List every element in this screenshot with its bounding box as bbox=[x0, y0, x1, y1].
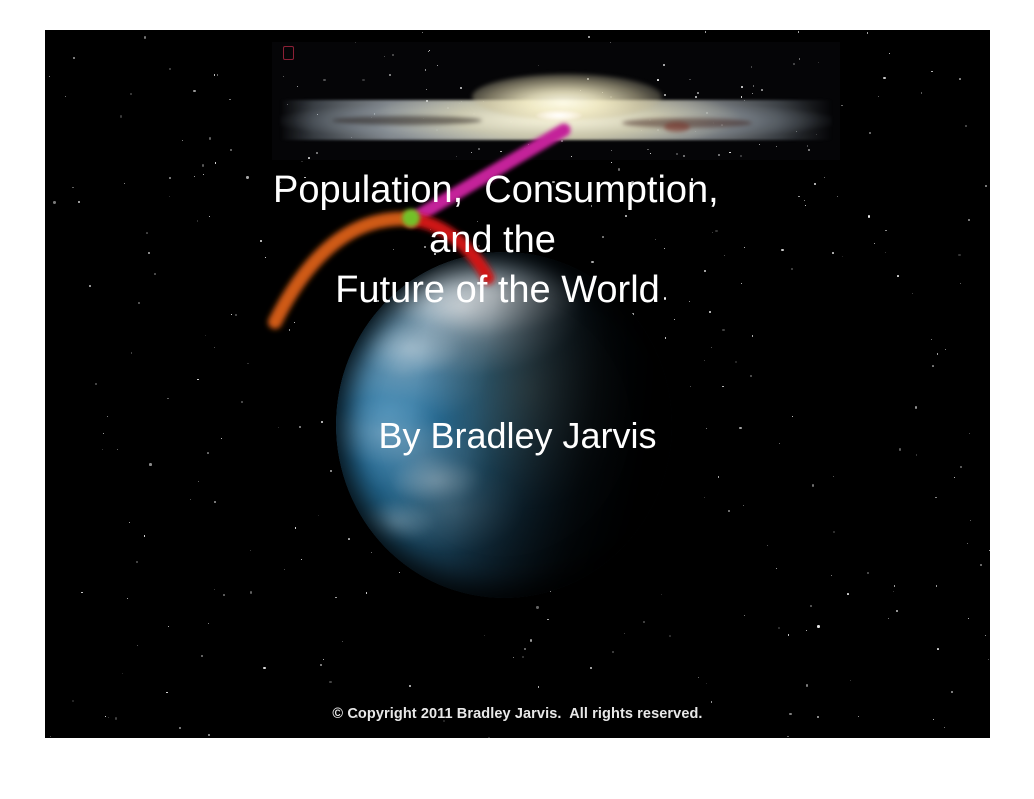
star bbox=[967, 543, 969, 545]
star bbox=[689, 79, 691, 81]
star bbox=[937, 353, 939, 355]
star bbox=[205, 335, 206, 336]
star bbox=[122, 673, 123, 674]
star bbox=[384, 56, 385, 57]
star bbox=[808, 149, 810, 151]
star bbox=[776, 146, 777, 147]
star bbox=[247, 363, 248, 364]
star bbox=[665, 337, 667, 339]
star bbox=[65, 96, 66, 97]
star bbox=[850, 680, 852, 682]
slide-page: Population, Consumption, and the Future … bbox=[0, 0, 1034, 799]
star bbox=[524, 148, 525, 149]
star bbox=[263, 667, 265, 669]
star bbox=[960, 466, 962, 468]
star bbox=[215, 162, 216, 163]
star bbox=[893, 591, 894, 592]
star bbox=[348, 538, 350, 540]
star bbox=[167, 398, 169, 400]
star bbox=[136, 561, 138, 563]
star bbox=[330, 470, 332, 472]
star bbox=[704, 497, 705, 498]
star bbox=[753, 85, 754, 86]
star bbox=[728, 510, 730, 512]
star bbox=[538, 65, 539, 66]
star bbox=[806, 630, 807, 631]
star bbox=[316, 152, 318, 154]
galaxy-core-highlight bbox=[536, 110, 582, 121]
star bbox=[428, 51, 429, 52]
galaxy-dust-lane-left bbox=[332, 116, 482, 125]
star bbox=[706, 683, 707, 684]
star bbox=[208, 734, 210, 736]
star bbox=[970, 520, 971, 521]
star bbox=[752, 93, 753, 94]
star bbox=[168, 626, 169, 627]
star bbox=[488, 737, 491, 738]
star bbox=[190, 499, 191, 500]
star bbox=[711, 701, 713, 703]
star bbox=[965, 125, 967, 127]
star bbox=[335, 597, 336, 598]
star bbox=[320, 664, 323, 667]
star bbox=[611, 162, 612, 163]
star bbox=[362, 79, 364, 81]
star bbox=[718, 154, 720, 156]
star bbox=[537, 145, 538, 146]
star bbox=[915, 406, 917, 408]
star bbox=[571, 156, 572, 157]
star bbox=[841, 105, 843, 107]
star bbox=[833, 476, 834, 477]
star bbox=[214, 501, 216, 503]
star bbox=[932, 365, 934, 367]
star bbox=[137, 645, 138, 646]
star bbox=[798, 31, 800, 33]
star bbox=[676, 153, 678, 155]
star bbox=[522, 656, 524, 658]
star bbox=[355, 42, 356, 43]
page-title: Population, Consumption, and the Future … bbox=[45, 165, 990, 315]
title-line-2: and the bbox=[45, 215, 990, 265]
star bbox=[894, 585, 896, 587]
star bbox=[223, 594, 225, 596]
star bbox=[130, 93, 132, 95]
star bbox=[744, 615, 745, 616]
star bbox=[392, 54, 394, 56]
star bbox=[217, 74, 218, 75]
star bbox=[869, 132, 871, 134]
star bbox=[989, 550, 990, 551]
star bbox=[460, 87, 462, 89]
star bbox=[127, 598, 128, 599]
star bbox=[750, 375, 752, 377]
star bbox=[230, 149, 233, 152]
star bbox=[73, 57, 75, 59]
star bbox=[294, 322, 296, 324]
star bbox=[318, 515, 320, 517]
star bbox=[342, 641, 343, 642]
star bbox=[524, 648, 526, 650]
star bbox=[741, 96, 743, 98]
star bbox=[297, 86, 299, 88]
star bbox=[937, 648, 939, 650]
star bbox=[284, 569, 285, 570]
star bbox=[793, 63, 795, 65]
star bbox=[698, 677, 699, 678]
star bbox=[198, 481, 199, 482]
star bbox=[743, 505, 744, 506]
star bbox=[49, 76, 50, 77]
star bbox=[72, 700, 74, 702]
star bbox=[366, 592, 367, 593]
red-annotation-mark bbox=[283, 46, 294, 60]
star bbox=[484, 635, 485, 636]
star bbox=[831, 575, 832, 576]
star bbox=[663, 64, 664, 65]
star bbox=[878, 96, 879, 97]
star bbox=[674, 319, 675, 320]
star bbox=[536, 606, 538, 608]
author-byline: By Bradley Jarvis bbox=[45, 412, 990, 460]
star bbox=[888, 618, 889, 619]
galaxy-reddish-knot bbox=[664, 122, 690, 132]
star bbox=[250, 550, 251, 551]
star bbox=[471, 152, 472, 153]
star bbox=[214, 347, 215, 348]
star bbox=[661, 594, 662, 595]
star bbox=[295, 527, 297, 529]
star bbox=[214, 589, 215, 590]
star bbox=[289, 329, 290, 330]
star bbox=[669, 635, 671, 637]
star bbox=[988, 659, 989, 660]
star bbox=[208, 623, 210, 625]
star bbox=[740, 155, 742, 157]
star bbox=[889, 53, 890, 54]
star bbox=[429, 50, 430, 51]
star bbox=[767, 545, 768, 546]
star bbox=[590, 667, 593, 670]
star bbox=[751, 66, 753, 68]
star bbox=[329, 681, 332, 684]
star bbox=[425, 69, 427, 71]
star bbox=[500, 151, 501, 152]
star bbox=[144, 36, 147, 39]
star bbox=[169, 68, 172, 71]
star bbox=[588, 36, 590, 38]
star bbox=[818, 62, 819, 63]
star bbox=[301, 559, 302, 560]
star bbox=[690, 386, 691, 387]
star bbox=[705, 31, 706, 32]
star bbox=[778, 627, 780, 629]
star bbox=[426, 89, 427, 90]
star bbox=[95, 383, 97, 385]
title-line-1: Population, Consumption, bbox=[45, 165, 990, 215]
star bbox=[422, 32, 423, 33]
star bbox=[389, 74, 391, 76]
star bbox=[283, 76, 284, 77]
star bbox=[647, 149, 648, 150]
star bbox=[643, 621, 645, 623]
star bbox=[193, 90, 195, 92]
star bbox=[847, 593, 849, 595]
star bbox=[201, 655, 203, 657]
star bbox=[129, 522, 130, 523]
star bbox=[308, 157, 310, 159]
star bbox=[954, 477, 955, 478]
star bbox=[695, 96, 697, 98]
star bbox=[182, 140, 184, 142]
star bbox=[787, 736, 789, 738]
star bbox=[149, 463, 152, 466]
star bbox=[323, 659, 325, 661]
star bbox=[516, 159, 517, 160]
star bbox=[229, 99, 231, 101]
star bbox=[144, 535, 146, 537]
star bbox=[722, 329, 724, 331]
star bbox=[921, 92, 923, 94]
star bbox=[867, 572, 869, 574]
star bbox=[179, 727, 181, 729]
star bbox=[538, 686, 540, 688]
star bbox=[718, 476, 720, 478]
star bbox=[735, 361, 737, 363]
star bbox=[722, 386, 723, 387]
star bbox=[896, 610, 898, 612]
star bbox=[812, 484, 814, 486]
star bbox=[624, 633, 625, 634]
presentation-slide: Population, Consumption, and the Future … bbox=[45, 30, 990, 738]
star bbox=[409, 685, 411, 687]
star bbox=[931, 71, 932, 72]
star bbox=[788, 634, 790, 636]
star bbox=[968, 618, 969, 619]
star bbox=[759, 144, 760, 145]
star bbox=[610, 42, 611, 43]
star bbox=[478, 148, 480, 150]
title-line-3: Future of the World bbox=[45, 265, 990, 315]
star bbox=[131, 352, 133, 354]
star bbox=[959, 78, 961, 80]
star bbox=[664, 94, 666, 96]
star bbox=[776, 568, 777, 569]
star bbox=[944, 727, 945, 728]
star bbox=[399, 572, 400, 573]
star bbox=[810, 605, 812, 607]
star bbox=[166, 692, 168, 694]
star bbox=[951, 691, 953, 693]
star bbox=[980, 564, 982, 566]
star bbox=[833, 531, 835, 533]
star bbox=[752, 335, 754, 337]
star bbox=[456, 156, 457, 157]
star bbox=[209, 137, 211, 139]
star bbox=[683, 155, 685, 157]
star bbox=[741, 86, 743, 88]
star bbox=[883, 77, 886, 80]
star bbox=[807, 145, 809, 147]
star bbox=[547, 619, 548, 620]
star bbox=[214, 74, 216, 76]
star bbox=[530, 639, 532, 641]
star bbox=[528, 144, 529, 145]
star bbox=[729, 152, 731, 154]
star bbox=[867, 32, 868, 33]
star bbox=[935, 497, 936, 498]
star bbox=[936, 585, 938, 587]
star bbox=[81, 592, 83, 594]
star bbox=[806, 684, 809, 687]
star bbox=[250, 591, 252, 593]
star bbox=[513, 657, 514, 658]
star bbox=[697, 92, 699, 94]
star bbox=[817, 625, 820, 628]
star bbox=[985, 635, 986, 636]
star bbox=[657, 79, 659, 81]
star bbox=[612, 651, 614, 653]
star bbox=[761, 89, 763, 91]
star bbox=[711, 347, 712, 348]
star bbox=[50, 736, 51, 737]
star bbox=[945, 349, 946, 350]
star bbox=[301, 161, 303, 163]
star bbox=[371, 552, 372, 553]
star bbox=[704, 360, 705, 361]
star bbox=[650, 153, 651, 154]
star bbox=[931, 339, 932, 340]
star bbox=[241, 401, 243, 403]
star bbox=[323, 79, 325, 81]
star bbox=[437, 65, 438, 66]
copyright-notice: © Copyright 2011 Bradley Jarvis. All rig… bbox=[45, 706, 990, 722]
edge-on-galaxy-image bbox=[272, 42, 840, 160]
star bbox=[611, 150, 612, 151]
star bbox=[799, 58, 801, 60]
star bbox=[197, 379, 198, 380]
star bbox=[120, 115, 122, 117]
